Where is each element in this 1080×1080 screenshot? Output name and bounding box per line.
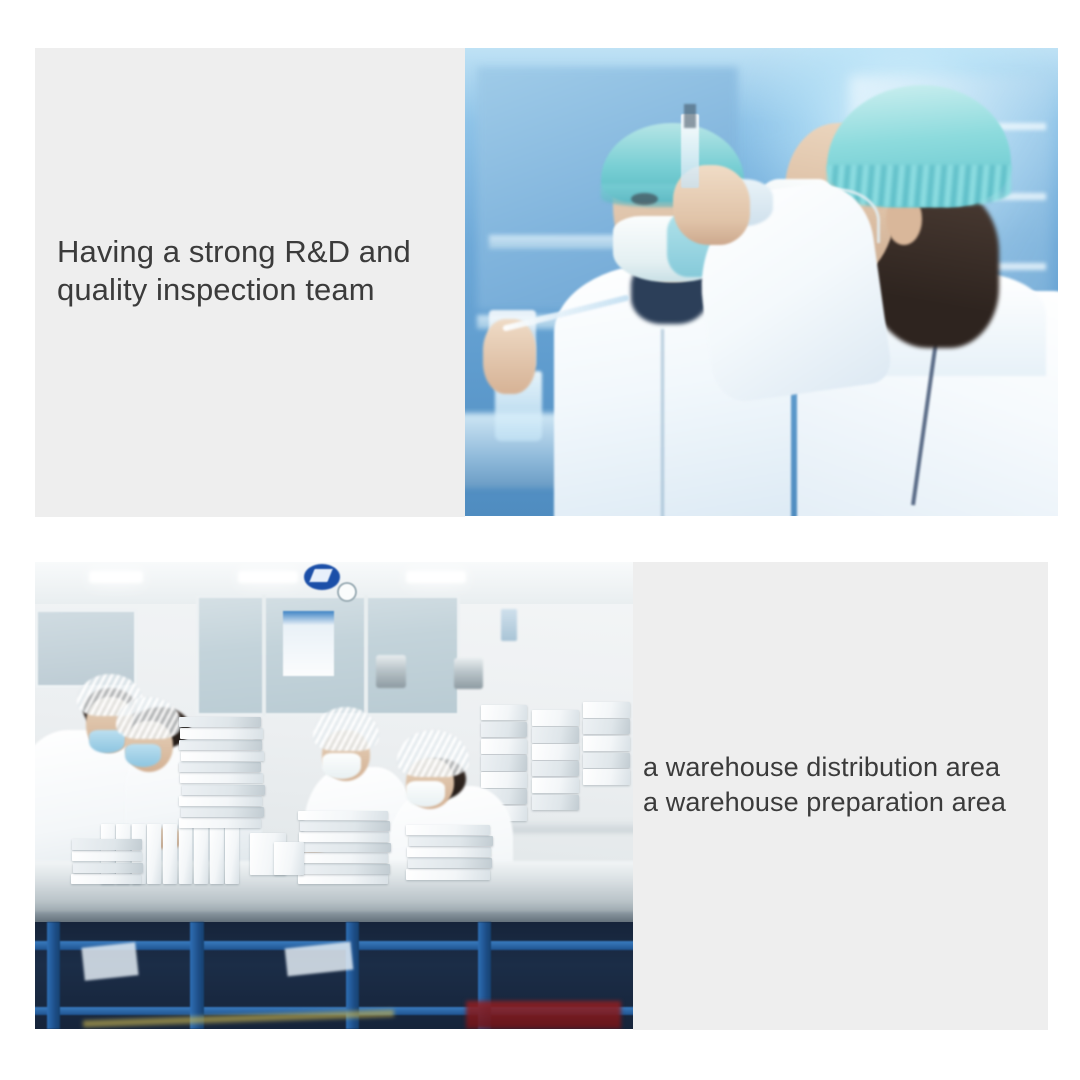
work-table-leg [47, 922, 60, 1029]
work-table-leg [190, 922, 203, 1029]
box-stack-right [406, 824, 502, 880]
window-mullion [364, 595, 368, 716]
product-box [298, 811, 387, 821]
product-box [481, 739, 528, 754]
top-caption-line-2: quality inspection team [57, 271, 452, 309]
technician-a-coat-seam [661, 329, 664, 516]
product-box [583, 753, 630, 768]
bottom-caption-line-1: a warehouse distribution area [643, 750, 1048, 785]
product-box [532, 727, 579, 742]
product-box [298, 874, 387, 884]
bottom-caption-panel: a warehouse distribution area a warehous… [633, 562, 1048, 1030]
product-box [583, 736, 630, 751]
product-box [406, 869, 490, 879]
packer-2-face-mask [125, 744, 161, 767]
stainless-pot [376, 655, 406, 688]
top-caption-panel: Having a strong R&D and quality inspecti… [35, 48, 465, 517]
product-box [481, 772, 528, 787]
product-box [180, 728, 262, 738]
box-stack-center [298, 796, 400, 885]
box-stack-left [71, 838, 149, 885]
product-box [408, 858, 492, 868]
ceiling-light [238, 571, 298, 582]
product-box [301, 843, 390, 853]
shelf-paper [81, 942, 138, 980]
section-bottom: a warehouse distribution area a warehous… [35, 562, 1048, 1030]
product-box [210, 824, 224, 885]
window-mullion [262, 595, 266, 716]
product-box [583, 719, 630, 734]
product-box [181, 807, 263, 817]
product-box [147, 824, 161, 885]
packer-3-face-mask [322, 753, 361, 779]
sample-vial-tip [684, 104, 696, 127]
section-top: Having a strong R&D and quality inspecti… [35, 48, 1058, 518]
product-box [179, 740, 261, 750]
packer-4-face-mask [406, 781, 445, 807]
product-box [532, 744, 579, 759]
product-box [532, 778, 579, 793]
product-box [274, 842, 304, 875]
product-box [179, 818, 261, 828]
technician-a-hand [483, 319, 536, 394]
ceiling-light [406, 571, 466, 582]
product-box [300, 864, 389, 874]
wall-notice-board [283, 611, 334, 676]
product-box [180, 773, 262, 783]
product-box [532, 795, 579, 810]
product-box [299, 832, 388, 842]
ceiling-light [89, 571, 143, 582]
product-box [583, 769, 630, 784]
product-box [73, 863, 143, 873]
product-box [298, 853, 387, 863]
banner-page: Having a strong R&D and quality inspecti… [0, 0, 1080, 1080]
product-box [407, 847, 491, 857]
product-box [163, 824, 177, 885]
product-box [71, 874, 141, 884]
product-box [194, 824, 208, 885]
wall-bottle [501, 609, 517, 642]
product-box [583, 702, 630, 717]
product-box [481, 722, 528, 737]
box-stack-tall [179, 716, 275, 828]
product-box [532, 761, 579, 776]
product-box [179, 762, 261, 772]
product-box [179, 717, 261, 727]
product-box [72, 839, 142, 849]
bottom-caption-line-2: a warehouse preparation area [643, 785, 1048, 820]
product-box [182, 785, 264, 795]
product-box [481, 755, 528, 770]
product-box [179, 796, 261, 806]
warehouse-packaging-photo [35, 562, 633, 1029]
product-box [72, 851, 142, 861]
product-box [181, 751, 263, 761]
product-box [409, 836, 493, 846]
floor-red-mat [466, 1001, 621, 1029]
top-caption-line-1: Having a strong R&D and [57, 233, 452, 271]
lab-inspection-photo [465, 48, 1058, 516]
bottom-caption: a warehouse distribution area a warehous… [643, 750, 1048, 820]
stainless-pot [454, 658, 484, 689]
product-box [532, 710, 579, 725]
product-box [481, 705, 528, 720]
product-box [406, 825, 490, 835]
top-caption: Having a strong R&D and quality inspecti… [57, 233, 452, 310]
product-box [225, 824, 239, 885]
product-box [179, 824, 193, 885]
technician-a-eye [631, 193, 658, 205]
product-box [300, 821, 389, 831]
